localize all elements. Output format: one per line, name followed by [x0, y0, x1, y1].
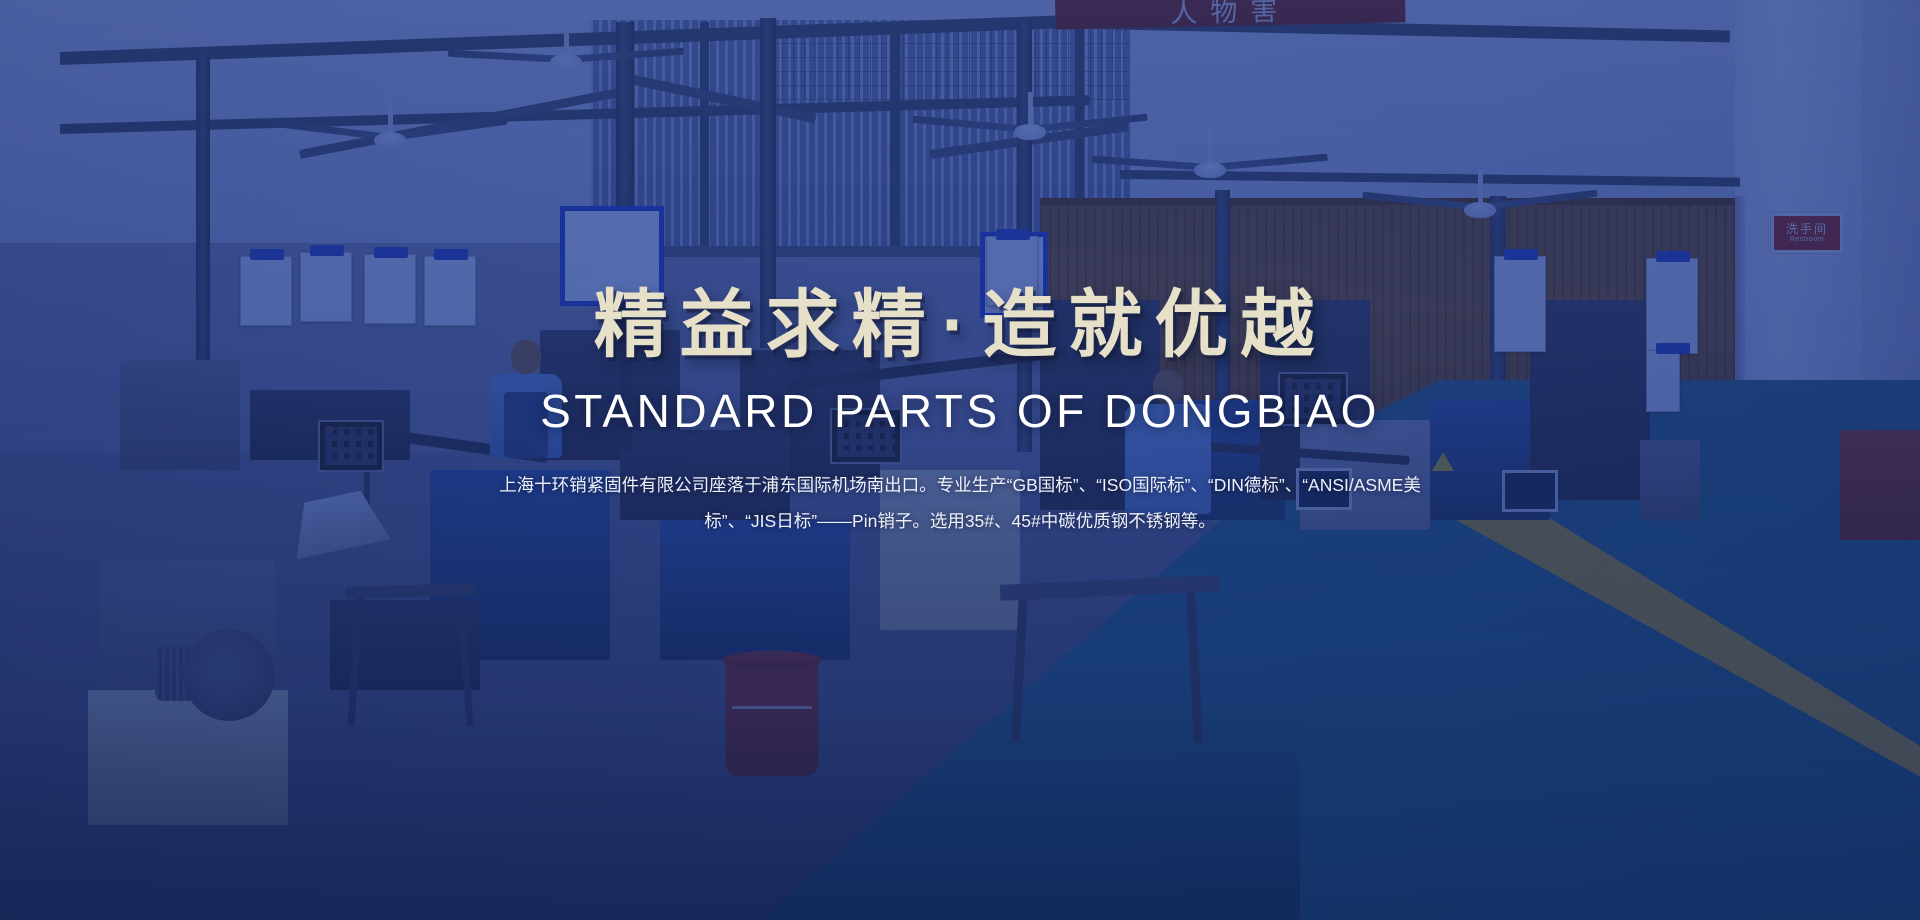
headline-separator: · — [938, 283, 983, 366]
hero-subtitle: STANDARD PARTS OF DONGBIAO — [540, 384, 1380, 438]
hero-headline: 精益求精·造就优越 — [594, 288, 1327, 362]
hero-content: 精益求精·造就优越 STANDARD PARTS OF DONGBIAO 上海十… — [0, 0, 1920, 920]
hero-banner: 人物害 洗手间 Restroom — [0, 0, 1920, 920]
headline-right: 造就优越 — [982, 283, 1326, 366]
headline-left: 精益求精 — [594, 283, 938, 366]
hero-description: 上海十环销紧固件有限公司座落于浦东国际机场南出口。专业生产“GB国标”、“ISO… — [490, 468, 1430, 540]
